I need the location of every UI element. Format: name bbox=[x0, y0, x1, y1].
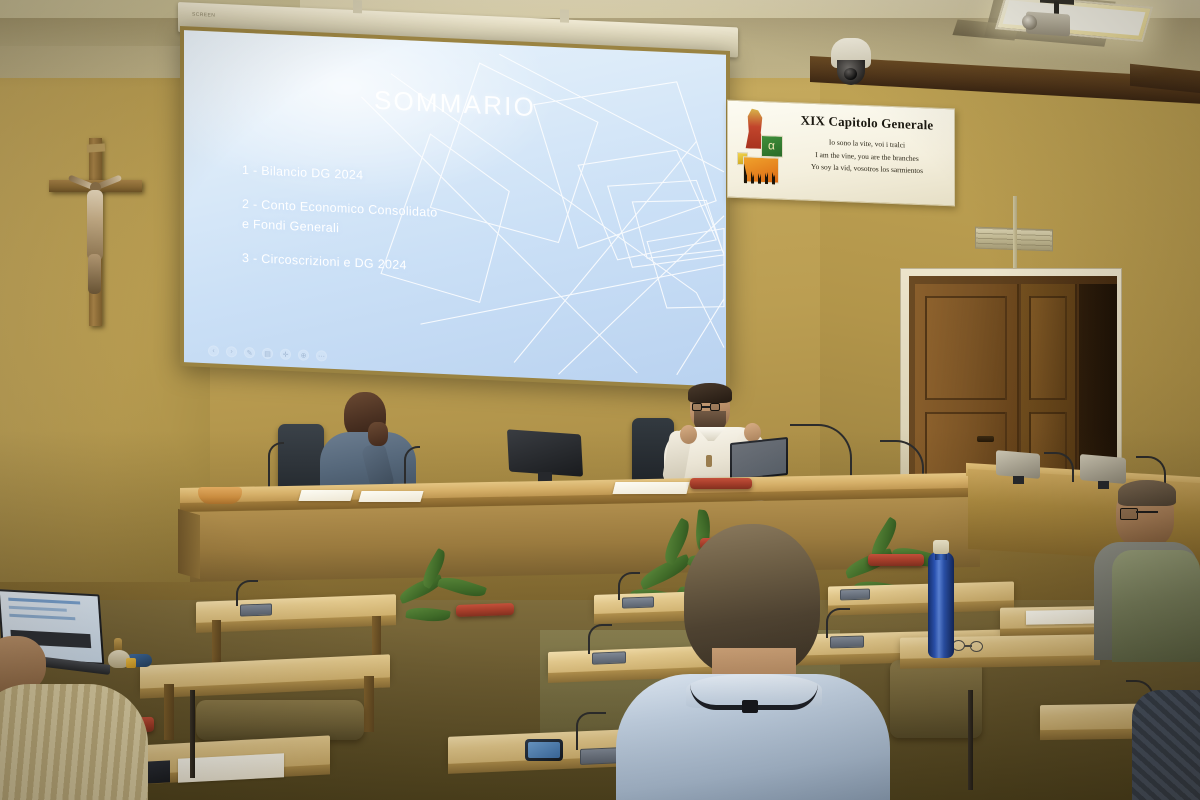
papers-head-table-2 bbox=[358, 491, 423, 502]
chair-row2-left bbox=[196, 700, 364, 740]
desk-leg-r1-l1 bbox=[212, 620, 221, 668]
chapter-emblem-icon: α bbox=[735, 108, 785, 190]
monitor-bench-right-1 bbox=[996, 452, 1042, 486]
chapter-poster: α XIX Capitolo Generale Io sono la vite,… bbox=[727, 100, 955, 207]
poster-title: XIX Capitolo Generale bbox=[788, 112, 946, 134]
conference-hall-photo: SCREEN bbox=[0, 0, 1200, 800]
desk-leg-r2-l2 bbox=[364, 676, 374, 732]
attendee-foreground-lanyard-clip bbox=[742, 700, 758, 713]
attendee-right-glasses-temple bbox=[1136, 511, 1158, 513]
presenter-left-hand bbox=[368, 422, 388, 446]
potted-plant-left bbox=[396, 560, 492, 642]
presenter-right-glasses-left-lens bbox=[692, 403, 702, 411]
attendee-left-edge-shirt bbox=[0, 684, 148, 800]
chair-leg-center bbox=[190, 690, 195, 778]
prev-arrow-icon[interactable]: ‹ bbox=[208, 345, 219, 356]
presentation-slide: SOMMARIO 1 - Bilancio DG 2024 2 - Conto … bbox=[184, 30, 726, 387]
desk-leg-r2-l1 bbox=[164, 684, 174, 740]
cushion-r1-left bbox=[456, 603, 514, 617]
presenter-right-pendant bbox=[706, 455, 712, 467]
presenter-right-hand-left bbox=[680, 425, 697, 444]
papers-head-table-1 bbox=[298, 490, 353, 501]
microphone-head-table-1 bbox=[268, 442, 284, 490]
attendee-foreground bbox=[608, 524, 898, 800]
more-options-icon[interactable]: ⋯ bbox=[316, 350, 327, 361]
attendee-right bbox=[1088, 482, 1200, 672]
presenter-right-glasses-right-lens bbox=[710, 403, 720, 411]
slide-bullet-3: 3 - Circoscrizioni e DG 2024 bbox=[242, 251, 606, 282]
wicker-basket bbox=[198, 487, 242, 504]
eyeglasses-on-desk-icon bbox=[952, 640, 986, 653]
pen-tool-icon[interactable]: ✎ bbox=[244, 347, 255, 358]
zoom-icon[interactable]: ⊕ bbox=[298, 349, 309, 360]
attendee-right-vest bbox=[1112, 550, 1200, 662]
attendee-bottom-right-shirt bbox=[1132, 690, 1200, 800]
projection-screen: SOMMARIO 1 - Bilancio DG 2024 2 - Conto … bbox=[180, 26, 730, 391]
microphone-r1-left bbox=[236, 580, 258, 606]
microphone-r3-center bbox=[576, 712, 606, 750]
pointer-icon[interactable]: ✛ bbox=[280, 349, 291, 360]
cushion-head-table bbox=[690, 478, 752, 489]
blue-water-bottle bbox=[928, 552, 954, 658]
slide-bullet-list: 1 - Bilancio DG 2024 2 - Conto Economico… bbox=[242, 163, 606, 302]
attendee-right-glasses-lens bbox=[1120, 508, 1138, 520]
ceiling-projector-icon bbox=[1020, 3, 1076, 39]
attendee-bottom-right bbox=[1132, 690, 1200, 800]
screen-brand-label: SCREEN bbox=[192, 12, 215, 19]
attendee-left-edge bbox=[0, 636, 160, 800]
next-arrow-icon[interactable]: › bbox=[226, 346, 237, 357]
ptz-dome-camera-icon bbox=[828, 38, 874, 90]
smartphone[interactable] bbox=[525, 739, 563, 761]
wooden-crucifix-icon bbox=[47, 138, 145, 326]
presenter-right-glasses-bridge bbox=[702, 406, 711, 408]
highlighter-icon[interactable]: ▤ bbox=[262, 348, 273, 359]
presenter-right-hair bbox=[688, 383, 732, 403]
chair-leg-right bbox=[968, 690, 973, 790]
attendee-right-hair bbox=[1118, 480, 1176, 506]
papers-head-table-3 bbox=[613, 482, 690, 494]
